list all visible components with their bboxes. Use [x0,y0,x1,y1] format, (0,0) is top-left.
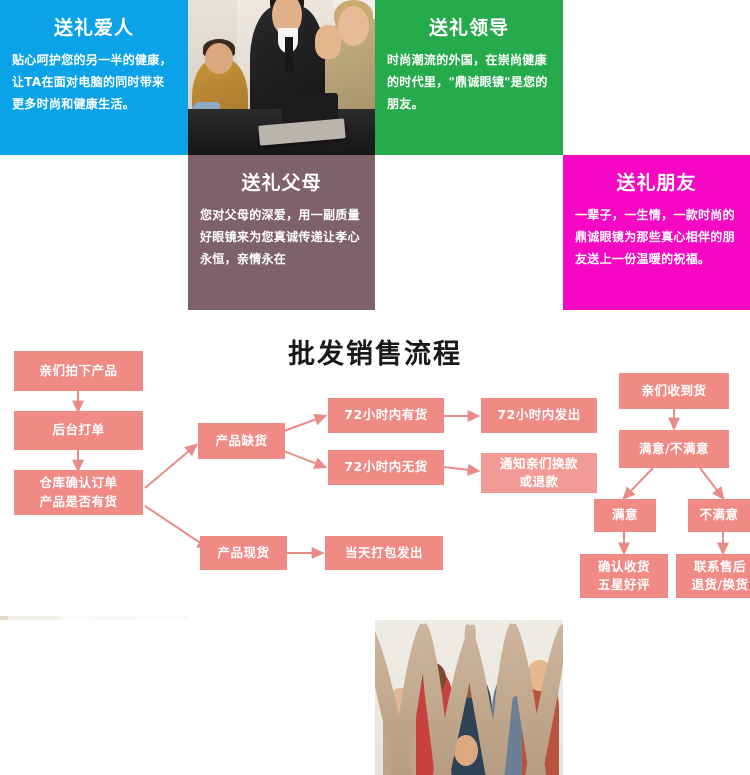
flow-box-line: 或退款 [519,473,558,491]
panel-gift-friends: 送礼朋友 一辈子，一生情，一款时尚的鼎诚眼镜为那些真心相伴的朋友送上一份温暖的祝… [563,155,750,310]
flowchart-title: 批发销售流程 [0,332,750,371]
wholesale-flowchart: 批发销售流程 [0,310,750,616]
panel-gift-leader-body: 时尚潮流的外国，在崇尚健康的时代里，"鼎诚眼镜"是您的朋友。 [387,49,551,116]
flow-box-satisfied-or-not: 满意/不满意 [619,430,729,468]
flow-box-backend-print: 后台打单 [14,411,143,450]
flow-box-line: 72小时内有货 [344,406,427,424]
flow-box-line: 亲们收到货 [641,382,706,400]
flow-box-line: 产品是否有货 [39,493,117,511]
flow-box-confirm-five-star: 确认收货 五星好评 [580,554,668,598]
flow-box-warehouse-check: 仓库确认订单 产品是否有货 [14,470,143,515]
flow-box-line: 五星好评 [598,576,650,594]
flow-box-in-stock: 产品现货 [200,536,287,570]
flow-box-line: 72小时内发出 [497,406,580,424]
panel-gift-friends-body: 一辈子，一生情，一款时尚的鼎诚眼镜为那些真心相伴的朋友送上一份温暖的祝福。 [575,204,738,271]
flow-box-line: 后台打单 [52,421,104,439]
flow-box-notify-exchange: 通知亲们换款 或退款 [481,453,597,493]
flow-box-restock-72h: 72小时内有货 [328,398,444,433]
flow-box-line: 确认收货 [598,558,650,576]
flow-box-line: 72小时内无货 [344,458,427,476]
flow-box-contact-aftersales: 联系售后 退货/换货 [676,554,750,598]
flow-box-ship-same-day: 当天打包发出 [325,536,443,570]
panel-gift-leader-title: 送礼领导 [429,18,509,39]
panel-gift-parents: 送礼父母 您对父母的深爱，用一副质量好眼镜来为您真诚传递让孝心永恒，亲情永在 [188,155,375,310]
panel-gift-parents-title: 送礼父母 [241,173,321,194]
panel-gift-lover-body: 贴心呵护您的另一半的健康，让TA在面对电脑的同时带来更多时尚和健康生活。 [12,49,176,116]
flow-box-line: 当天打包发出 [345,544,423,562]
flow-box-line: 退货/换货 [691,576,748,594]
flow-box-line: 满意 [612,506,638,524]
flow-box-out-of-stock: 产品缺货 [198,423,285,459]
office-meeting-photo [188,0,375,155]
promo-banner-grid: 送礼爱人 贴心呵护您的另一半的健康，让TA在面对电脑的同时带来更多时尚和健康生活… [0,0,750,310]
flow-box-no-stock-72h: 72小时内无货 [328,450,444,485]
panel-gift-parents-body: 您对父母的深爱，用一副质量好眼镜来为您真诚传递让孝心永恒，亲情永在 [200,204,363,271]
flow-box-line: 产品缺货 [215,432,267,450]
panel-gift-lover-title: 送礼爱人 [54,18,134,39]
panel-gift-lover: 送礼爱人 贴心呵护您的另一半的健康，让TA在面对电脑的同时带来更多时尚和健康生活… [0,0,188,155]
friends-group-photo [375,620,563,775]
flow-box-line: 仓库确认订单 [39,474,117,492]
flow-box-line: 通知亲们换款 [500,455,578,473]
flow-box-buyer-received: 亲们收到货 [619,373,729,409]
flow-box-line: 不满意 [699,506,738,524]
flow-box-not-satisfied: 不满意 [688,499,750,532]
flow-box-line: 满意/不满意 [639,440,709,458]
flow-box-satisfied: 满意 [594,499,656,532]
flow-box-line: 联系售后 [694,558,746,576]
panel-gift-friends-title: 送礼朋友 [616,173,696,194]
flow-box-line: 产品现货 [217,544,269,562]
panel-gift-leader: 送礼领导 时尚潮流的外国，在崇尚健康的时代里，"鼎诚眼镜"是您的朋友。 [375,0,563,155]
flow-box-ship-within-72h: 72小时内发出 [481,398,597,433]
